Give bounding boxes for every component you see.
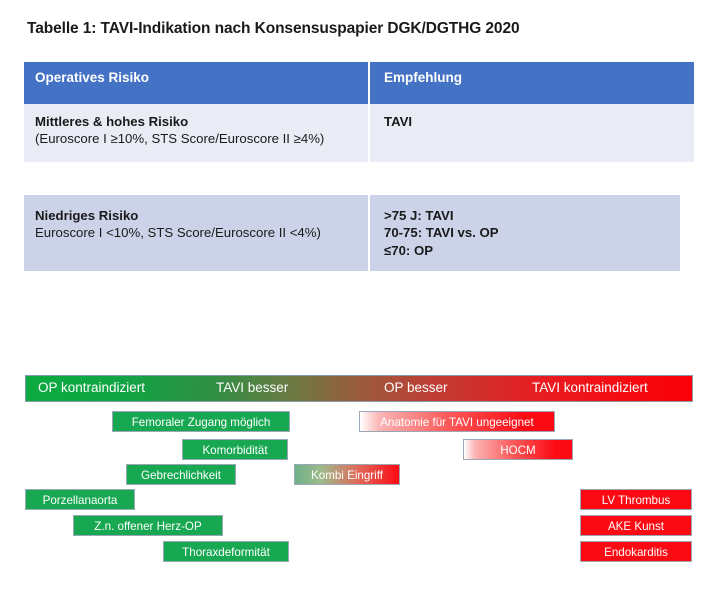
tag-lv-thrombus: LV Thrombus xyxy=(580,489,692,510)
tag-porzellanaorta: Porzellanaorta xyxy=(25,489,135,510)
table-header-row: Operatives Risiko Empfehlung xyxy=(24,62,694,104)
table-header-cell-recommendation: Empfehlung xyxy=(370,62,694,104)
tag-hocm: HOCM xyxy=(463,439,573,460)
table-cell-risk: Niedriges Risiko Euroscore I <10%, STS S… xyxy=(24,195,370,271)
tag-kombi-eingriff: Kombi Eingriff xyxy=(294,464,400,485)
spectrum-label-op-better: OP besser xyxy=(384,380,448,395)
table-cell-recommendation: >75 J: TAVI 70-75: TAVI vs. OP ≤70: OP xyxy=(370,195,680,271)
tag-ake-kunst: AKE Kunst xyxy=(580,515,692,536)
indication-table-block-2: Niedriges Risiko Euroscore I <10%, STS S… xyxy=(24,195,680,271)
tag-komorbiditaet: Komorbidität xyxy=(182,439,288,460)
recommendation-line: TAVI xyxy=(384,113,694,130)
table-header-label-risk: Operatives Risiko xyxy=(35,71,370,86)
spectrum-label-op-contraindicated: OP kontraindiziert xyxy=(38,380,145,395)
page-title: Tabelle 1: TAVI-Indikation nach Konsensu… xyxy=(27,20,519,38)
tag-zn-offener-herz-op: Z.n. offener Herz-OP xyxy=(73,515,223,536)
spectrum-label-tavi-contraindicated: TAVI kontraindiziert xyxy=(532,380,648,395)
tag-femoraler-zugang-moeglich: Femoraler Zugang möglich xyxy=(112,411,290,432)
risk-title: Niedriges Risiko xyxy=(35,207,370,224)
tag-anatomie-fuer-tavi-ungeeignet: Anatomie für TAVI ungeeignet xyxy=(359,411,555,432)
table-row: Mittleres & hohes Risiko (Euroscore I ≥1… xyxy=(24,104,694,162)
table-cell-recommendation: TAVI xyxy=(370,104,694,162)
table-cell-risk: Mittleres & hohes Risiko (Euroscore I ≥1… xyxy=(24,104,370,162)
indication-table-block-1: Operatives Risiko Empfehlung Mittleres &… xyxy=(24,62,694,162)
risk-detail: Euroscore I <10%, STS Score/Euroscore II… xyxy=(35,224,370,241)
risk-detail: (Euroscore I ≥10%, STS Score/Euroscore I… xyxy=(35,130,370,147)
recommendation-line: ≤70: OP xyxy=(384,242,680,259)
table-header-label-recommendation: Empfehlung xyxy=(384,71,694,86)
recommendation-line: 70-75: TAVI vs. OP xyxy=(384,224,680,241)
tag-thoraxdeformitaet: Thoraxdeformität xyxy=(163,541,289,562)
tag-endokarditis: Endokarditis xyxy=(580,541,692,562)
spectrum-label-tavi-better: TAVI besser xyxy=(216,380,288,395)
tag-gebrechlichkeit: Gebrechlichkeit xyxy=(126,464,236,485)
risk-title: Mittleres & hohes Risiko xyxy=(35,113,370,130)
recommendation-line: >75 J: TAVI xyxy=(384,207,680,224)
table-header-cell-risk: Operatives Risiko xyxy=(24,62,370,104)
risk-spectrum-bar: OP kontraindiziert TAVI besser OP besser… xyxy=(25,375,693,402)
